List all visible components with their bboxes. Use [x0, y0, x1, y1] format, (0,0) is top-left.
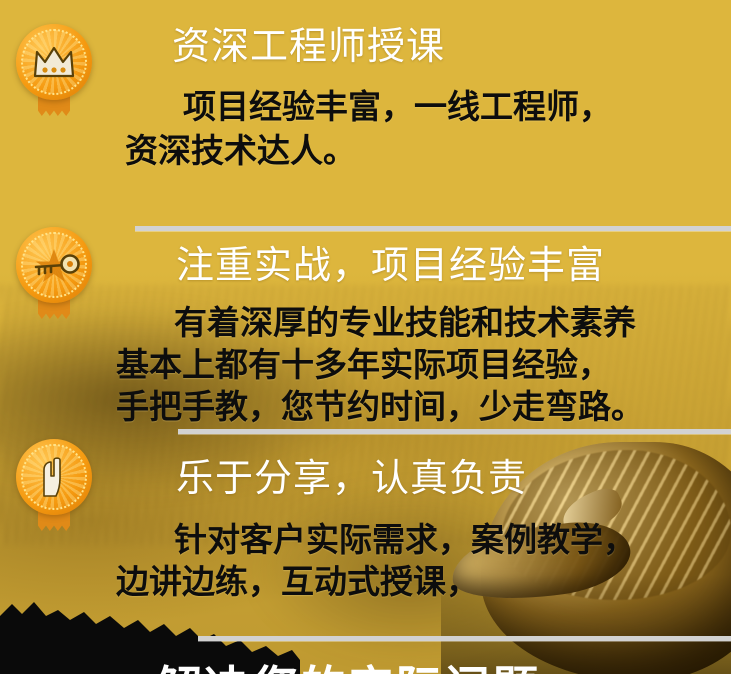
key-star-glyph — [16, 227, 92, 303]
section-body-line-2-2: 基本上都有十多年实际项目经验， — [116, 344, 611, 386]
body-text-span: 针对客户实际需求，案例教学， — [174, 521, 636, 558]
poster-root: 资深工程师授课 项目经验丰富，一线工程师， 资深技术达人。 — [0, 0, 731, 674]
hand-medal-icon — [12, 437, 96, 533]
section-title-3: 乐于分享，认真负责 — [176, 458, 527, 501]
section-body-line-1-1: 项目经验丰富，一线工程师， — [125, 86, 612, 128]
body-text-span: 项目经验丰富，一线工程师， — [183, 88, 612, 125]
bottom-divider — [198, 636, 731, 641]
badge-2 — [12, 225, 96, 321]
crown-glyph — [16, 24, 92, 100]
hand-glyph — [16, 439, 92, 515]
section-title-1: 资深工程师授课 — [172, 26, 445, 69]
section-body-line-2-3: 手把手教，您节约时间，少走弯路。 — [116, 386, 644, 428]
section-body-line-2-1: 有着深厚的专业技能和技术素养 — [116, 302, 636, 344]
section-body-line-3-1: 针对客户实际需求，案例教学， — [116, 519, 636, 561]
section-body-line-3-2: 边讲边练，互动式授课， — [116, 561, 479, 603]
badge-3 — [12, 437, 96, 533]
section-divider-2 — [135, 226, 731, 231]
badge-1 — [12, 22, 96, 118]
section-body-line-1-2: 资深技术达人。 — [125, 130, 356, 172]
section-title-2: 注重实战，项目经验丰富 — [176, 245, 605, 288]
section-divider-3 — [178, 429, 731, 434]
bottom-cropped-title: 解决您的实际问题 — [156, 652, 540, 674]
crown-medal-icon — [12, 22, 96, 118]
body-text-span: 有着深厚的专业技能和技术素养 — [174, 304, 636, 341]
key-medal-icon — [12, 225, 96, 321]
